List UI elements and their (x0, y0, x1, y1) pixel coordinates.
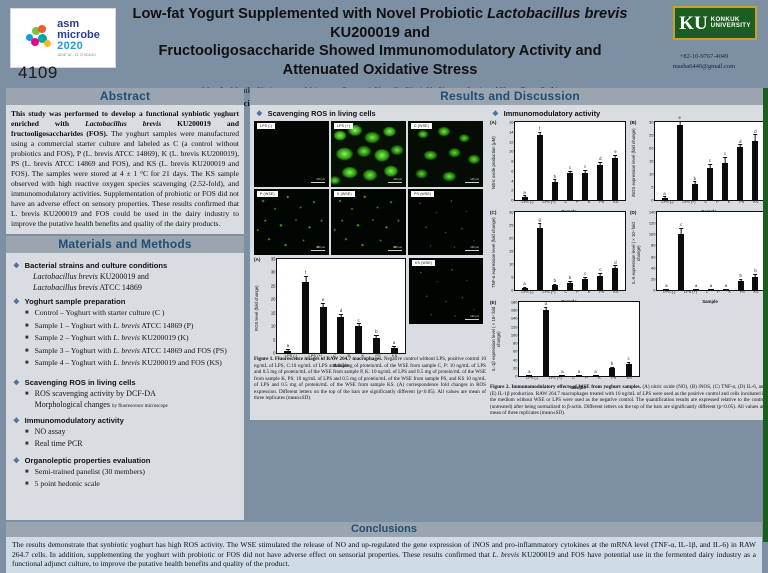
y-tick-label: 0 (511, 288, 513, 293)
subheading-immunomodulatory: ❖ Immunomodulatory activity (492, 109, 766, 118)
square-bullet-icon: ■ (25, 427, 29, 438)
bar (707, 168, 713, 201)
significance-letter: a (725, 283, 727, 288)
bar (537, 135, 543, 200)
significance-letter: b (754, 268, 756, 273)
chart-ros: (A) ROS level (fold change) 051015202530… (254, 258, 406, 354)
square-bullet-icon: ■ (25, 346, 29, 357)
chart-ylabel: IL-1β expression level (×10⁴ fold change… (492, 303, 502, 375)
bar-slot: b (552, 122, 558, 200)
y-tick-label: 100 (511, 332, 518, 337)
error-bar-cap (610, 367, 614, 368)
error-bar (679, 122, 680, 126)
contact-block: +82-10-9767-4049 masha6440@gmail.com (652, 52, 756, 71)
methods-section-scavenging-ros: ❖ Scavenging ROS in living cells (13, 378, 239, 387)
abstract-text: This study was performed to develop a fu… (11, 109, 239, 229)
error-bar (539, 224, 540, 228)
bar (597, 276, 603, 290)
bar (567, 283, 573, 290)
bar-slot: a (526, 302, 532, 376)
chart-ylabel: IL-6 expression level (×10⁴ fold change) (632, 215, 642, 291)
micrograph-label: LPS (+) (334, 123, 353, 129)
y-tick-label: 30 (271, 270, 276, 275)
bar-series: afbccde (515, 122, 625, 200)
error-bar (546, 307, 547, 310)
error-bar-cap (553, 284, 557, 285)
bar-slot: d (752, 122, 758, 200)
significance-letter: f (539, 126, 540, 131)
error-bar-cap (523, 195, 527, 196)
error-bar (585, 278, 586, 279)
y-tick-label: 8 (511, 159, 513, 164)
methods-bullet-1-1: ■Sample 1 – Yoghurt with L. brevis ATCC … (25, 321, 239, 332)
x-tick-label: LPS (-) (521, 290, 533, 294)
subheading-immunomodulatory-label: Immunomodulatory activity (504, 109, 601, 118)
error-bar (570, 171, 571, 172)
bar-slot: a (693, 212, 699, 290)
significance-letter: b (694, 176, 696, 181)
error-bar (612, 367, 613, 368)
diamond-bullet-icon: ❖ (492, 109, 499, 118)
error-bar-cap (538, 223, 542, 224)
y-tick-label: 25 (649, 133, 653, 138)
methods-bullet-1-3: ■Sample 3 – Yoghurt with L. brevis ATCC … (25, 346, 239, 357)
bar-slot: a (576, 302, 582, 376)
significance-letter: c (724, 151, 726, 156)
x-tick-label: LPS (-) (285, 353, 298, 358)
y-tick-label: 80 (513, 341, 517, 346)
significance-letter: a (561, 369, 563, 374)
methods-bullet-1-4: ■Sample 4 – Yoghurt with L. brevis KU200… (25, 358, 239, 369)
results-panel: ❖ Scavenging ROS in living cells LPS (-)… (250, 105, 768, 420)
significance-letter: e (614, 149, 616, 154)
x-tick-label: LPS (-) (526, 376, 538, 380)
konkuk-university-logo: KU KONKUK UNIVERSITY (673, 6, 757, 40)
y-tick-label: 0 (515, 374, 517, 379)
bar-slot: e (612, 122, 618, 200)
methods-title-4: Organoleptic properties evaluation (25, 456, 151, 465)
x-tick-label: LPS (-) (661, 200, 673, 204)
abstract-rest: The yoghurt samples were manufactured us… (11, 129, 239, 228)
bar (537, 228, 543, 290)
bar-slot: c (722, 122, 728, 200)
y-tick-label: 20 (513, 365, 517, 370)
error-bar-cap (723, 157, 727, 158)
y-tick-label: 16 (509, 120, 513, 125)
error-bar (755, 275, 756, 277)
title-species: Lactobacillus brevis (487, 6, 627, 22)
significance-letter: d (599, 156, 601, 161)
bar-slot: a (662, 122, 668, 200)
asm-logo-line4: JUNE 18 - 22 CHICAGO (57, 54, 100, 57)
significance-letter: b (569, 275, 571, 280)
x-tick-labels: LPS (-)LPS (+)CPKPSKS (655, 200, 765, 204)
asm-rings-icon (26, 25, 52, 51)
error-bar (664, 197, 665, 198)
square-bullet-icon: ■ (25, 467, 29, 478)
methods-section-bacterial-strains: ❖ Bacterial strains and culture conditio… (13, 261, 239, 270)
y-tick-label: 120 (511, 324, 518, 329)
chart-xlabel: Sample (276, 363, 406, 368)
significance-letter: b (554, 174, 556, 179)
scalebar-icon (465, 319, 479, 321)
abstract-heading: Abstract (6, 88, 244, 105)
conclusions-text: The results demonstrate that synbiotic y… (12, 540, 756, 570)
significance-letter: c (709, 158, 711, 163)
y-tick-label: 0 (273, 351, 275, 356)
significance-letter: a (578, 369, 580, 374)
bar (612, 158, 618, 200)
y-tick-label: 160 (511, 308, 518, 313)
scalebar-icon (311, 250, 325, 252)
significance-letter: a (393, 340, 395, 345)
scalebar-icon (465, 182, 479, 184)
error-bar-cap (538, 132, 542, 133)
bar-series: aebccdd (655, 122, 765, 200)
bar (355, 326, 362, 353)
y-tick-label: 4 (511, 178, 513, 183)
bar-slot: c (597, 212, 603, 290)
methods-section-immunomodulatory: ❖ Immunomodulatory activity (13, 416, 239, 425)
conclusions-panel: The results demonstrate that synbiotic y… (6, 537, 762, 573)
error-bar-cap (523, 287, 527, 288)
y-tick-label: 2 (511, 188, 513, 193)
bar-slot: c (582, 122, 588, 200)
micrograph-sample-p: P (WSE) 100 μm (254, 189, 329, 255)
bar (337, 317, 344, 353)
bar (752, 141, 758, 200)
results-heading: Results and Discussion (250, 88, 768, 105)
results-middle-column: ❖ Scavenging ROS in living cells LPS (-)… (254, 108, 486, 402)
methods-panel: ❖ Bacterial strains and culture conditio… (6, 253, 244, 520)
y-tick-label: 140 (511, 316, 518, 321)
error-bar (305, 276, 306, 281)
y-tick-label: 15 (509, 249, 513, 254)
methods-title-3: Immunomodulatory activity (25, 416, 124, 425)
significance-letter: c (569, 165, 571, 170)
error-bar-cap (754, 274, 758, 275)
micrograph-sample-ps: PS (WSE) 100 μm (408, 189, 483, 255)
x-tick-label: PS (599, 290, 604, 294)
square-bullet-icon: ■ (25, 321, 29, 332)
y-tick-label: 35 (271, 257, 276, 262)
error-bar (323, 304, 324, 307)
error-bar-cap (679, 228, 683, 229)
scalebar-icon (388, 182, 402, 184)
x-tick-label: LPS (+) (549, 376, 562, 380)
title-line2: Fructooligosaccharide Showed Immunomodul… (158, 43, 601, 78)
error-bar (524, 288, 525, 289)
x-tick-label: KS (753, 200, 758, 204)
significance-letter: d (545, 301, 547, 306)
results-right-column: ❖ Immunomodulatory activity (A) Nitric o… (490, 108, 766, 417)
error-bar (555, 284, 556, 285)
bar-slot: c (355, 259, 362, 353)
abstract-bold-species: Lactobacillus brevis (85, 119, 161, 128)
methods-heading: Materials and Methods (6, 236, 244, 253)
significance-letter: d (340, 308, 342, 313)
micrograph-label: PS (WSE) (411, 191, 434, 197)
y-tick-label: 10 (271, 324, 276, 329)
significance-letter: a (710, 283, 712, 288)
diamond-bullet-icon: ❖ (13, 378, 20, 387)
error-bar (710, 165, 711, 168)
significance-letter: g (539, 217, 541, 222)
square-bullet-icon: ■ (25, 439, 29, 450)
micrograph-sample-c: C (WSE) 100 μm (408, 121, 483, 187)
y-tick-label: 5 (511, 275, 513, 280)
error-bar (681, 229, 682, 234)
title-line1-b: KU200019 and (330, 25, 430, 41)
ku-monogram: KU (679, 14, 708, 33)
significance-letter: a (594, 369, 596, 374)
y-tick-label: 0 (651, 198, 653, 203)
error-bar (288, 350, 289, 351)
bar-slot: e (677, 122, 683, 200)
bar (738, 281, 744, 290)
bar-slot: a (593, 302, 599, 376)
bar-slot: a (391, 259, 398, 353)
error-bar-cap (568, 171, 572, 172)
chart-inos: (B) iNOS expression level (fold change) … (630, 121, 766, 201)
x-tick-label: PS (375, 353, 380, 358)
x-tick-label: P (716, 200, 719, 204)
error-bar-cap (598, 162, 602, 163)
micrograph-label: C (WSE) (411, 123, 432, 129)
y-tick-label: 120 (649, 221, 656, 226)
x-tick-label: P (585, 376, 588, 380)
micrograph-label: K (WSE) (334, 191, 355, 197)
significance-letter: a (523, 190, 525, 195)
methods-section-yoghurt-prep: ❖ Yoghurt sample preparation (13, 297, 239, 306)
micrograph-label: P (WSE) (257, 191, 278, 197)
bar-slot: b (567, 212, 573, 290)
error-bar (376, 335, 377, 337)
subheading-scavenging-ros: ❖ Scavenging ROS in living cells (256, 109, 486, 118)
error-bar (628, 363, 629, 364)
bar (582, 173, 588, 200)
methods-bullet-text-3-1: Real time PCR (35, 439, 83, 450)
bar-slot: b (752, 212, 758, 290)
bar-slot: a (723, 212, 729, 290)
y-tick-label: 10 (509, 149, 513, 154)
bar-slot: b (552, 212, 558, 290)
bar (320, 307, 327, 353)
error-bar (725, 158, 726, 163)
y-tick-label: 10 (509, 262, 513, 267)
significance-letter: d (614, 260, 616, 265)
error-bar-cap (614, 155, 618, 156)
micrograph-lps-positive: LPS (+) 100 μm (331, 121, 406, 187)
x-tick-label: LPS (-) (663, 290, 675, 294)
y-tick-label: 5 (273, 337, 275, 342)
methods-bullet-3-1: ■Real time PCR (25, 439, 239, 450)
y-tick-label: 6 (511, 168, 513, 173)
bar-slot: d (612, 212, 618, 290)
significance-letter: a (287, 343, 289, 348)
square-bullet-icon: ■ (25, 358, 29, 369)
error-bar-cap (738, 144, 742, 145)
x-tick-label: KS (754, 290, 759, 294)
x-tick-labels: LPS (-)LPS (+)CPKPSKS (515, 200, 625, 204)
poster-root: asm microbe 2020 JUNE 18 - 22 CHICAGO 41… (0, 0, 768, 542)
y-tick-label: 15 (271, 310, 276, 315)
x-tick-label: C (564, 200, 567, 204)
y-tick-label: 5 (651, 185, 653, 190)
error-bar (615, 156, 616, 158)
chart-ylabel: Nitric oxide production (μM) (492, 125, 497, 201)
plot-area: 05101520253035 afedcba LPS (-)LPS (+)CPK… (276, 258, 406, 354)
x-tick-label: LPS (+) (309, 353, 323, 358)
x-tick-label: LPS (+) (684, 290, 697, 294)
bar (692, 184, 698, 200)
square-bullet-icon: ■ (25, 479, 29, 490)
x-tick-label: P (576, 290, 579, 294)
error-bar-cap (598, 273, 602, 274)
bar-slot: d (597, 122, 603, 200)
bar-slot: c (567, 122, 573, 200)
x-tick-label: C (572, 376, 575, 380)
x-tick-label: C (704, 200, 707, 204)
y-tick-label: 140 (649, 210, 656, 215)
diamond-bullet-icon: ❖ (13, 456, 20, 465)
bar (543, 310, 549, 376)
error-bar (615, 266, 616, 268)
x-tick-label: PS (739, 200, 744, 204)
bar-slot: d (543, 302, 549, 376)
left-column: Abstract This study was performed to dev… (6, 88, 244, 520)
poster-number: 4109 (18, 63, 58, 83)
micrograph-lps-negative: LPS (-) 100 μm (254, 121, 329, 187)
y-tick-label: 60 (651, 254, 655, 259)
error-bar-cap (583, 170, 587, 171)
error-bar-cap (754, 134, 758, 135)
bar (597, 165, 603, 200)
y-tick-label: 40 (513, 357, 517, 362)
bar-slot: a (663, 212, 669, 290)
micrograph-label: KS (WSE) (412, 260, 435, 266)
asm-microbe-logo: asm microbe 2020 JUNE 18 - 22 CHICAGO (10, 8, 116, 68)
x-tick-label: LPS (-) (521, 200, 533, 204)
error-bar (600, 274, 601, 276)
significance-letter: b (739, 273, 741, 278)
bar-slot: b (738, 212, 744, 290)
bar-slot: f (302, 259, 309, 353)
methods-bullet-1-0: ■Control – Yoghurt with starter culture … (25, 308, 239, 319)
subheading-scavenging-ros-label: Scavenging ROS in living cells (268, 109, 376, 118)
methods-sub-0-1: Lactobacillus brevis ATCC 14869 (33, 283, 239, 293)
bar (609, 368, 615, 376)
error-bar-cap (303, 276, 307, 277)
error-bar-cap (663, 196, 667, 197)
ku-logo-line2: UNIVERSITY (711, 23, 751, 30)
bar (678, 234, 684, 290)
significance-letter: d (754, 129, 756, 134)
bar-slot: a (708, 212, 714, 290)
chart-tnfa: (C) TNF-α expression level (fold change)… (490, 211, 626, 291)
scalebar-icon (388, 250, 402, 252)
bar-slot: d (737, 122, 743, 200)
significance-letter: d (739, 139, 741, 144)
y-tick-label: 20 (649, 146, 653, 151)
square-bullet-icon: ■ (25, 389, 29, 411)
significance-letter: a (523, 281, 525, 286)
significance-letter: c (628, 356, 630, 361)
scalebar-icon (465, 250, 479, 252)
x-tick-label: P (576, 200, 579, 204)
poster-header: asm microbe 2020 JUNE 18 - 22 CHICAGO 41… (0, 0, 768, 88)
error-bar (358, 324, 359, 326)
x-tick-label: LPS (+) (543, 290, 556, 294)
error-bar (600, 163, 601, 165)
y-tick-label: 60 (513, 349, 517, 354)
methods-bullet-2-0: ■ROS scavenging activity by DCF-DAMorpho… (25, 389, 239, 411)
bar (722, 163, 728, 200)
bar-series: adaaabc (519, 302, 639, 376)
significance-letter: b (375, 329, 377, 334)
bar-slot: f (537, 122, 543, 200)
error-bar-cap (739, 279, 743, 280)
methods-bullet-text-4-1: 5 point hedonic scale (35, 479, 100, 490)
x-tick-label: K (588, 200, 591, 204)
chart-xlabel: Sample (656, 299, 764, 304)
bar-slot: g (537, 212, 543, 290)
methods-title-0: Bacterial strains and culture conditions (25, 261, 168, 270)
x-tick-label: PS (599, 200, 604, 204)
error-bar (570, 282, 571, 284)
bar-series: agbbccd (515, 212, 625, 290)
x-tick-label: C (333, 353, 336, 358)
error-bar-cap (708, 164, 712, 165)
chart-ylabel: iNOS expression level (fold change) (632, 125, 637, 201)
x-tick-label: K (588, 290, 591, 294)
significance-letter: c (599, 267, 601, 272)
bar-slot: d (337, 259, 344, 353)
x-tick-label: C (706, 290, 709, 294)
plot-area: 051015202530 agbbccd LPS (-)LPS (+)CPKPS… (514, 211, 626, 291)
significance-letter: a (665, 283, 667, 288)
contact-phone: +82-10-9767-4049 (652, 52, 756, 62)
y-tick-label: 40 (651, 265, 655, 270)
error-bar-cap (544, 307, 548, 308)
x-tick-label: KS (613, 200, 618, 204)
chart-xlabel: Sample (518, 385, 638, 390)
bar-slot: c (678, 212, 684, 290)
poster-title: Low-fat Yogurt Supplemented with Novel P… (120, 5, 640, 80)
significance-letter: e (679, 115, 681, 120)
methods-bullet-3-0: ■NO assay (25, 427, 239, 438)
error-bar (341, 315, 342, 317)
diamond-bullet-icon: ❖ (13, 261, 20, 270)
significance-letter: c (680, 222, 682, 227)
bar (373, 338, 380, 353)
y-tick-label: 100 (649, 232, 656, 237)
chart-il1b: (E) IL-1β expression level (×10⁴ fold ch… (490, 301, 640, 377)
significance-letter: c (584, 271, 586, 276)
micrograph-grid: LPS (-) 100 μm LPS (+) 100 μm (254, 121, 486, 255)
plot-area: 0246810121416 afbccde LPS (-)LPS (+)CPKP… (514, 121, 626, 201)
bar-slot: c (626, 302, 632, 376)
methods-bullet-4-1: ■5 point hedonic scale (25, 479, 239, 490)
methods-title-2: Scavenging ROS in living cells (25, 378, 136, 387)
x-tick-label: KS (613, 290, 618, 294)
methods-bullet-4-0: ■Semi-trained panelist (30 members) (25, 467, 239, 478)
micrograph-sample-ks: KS (WSE) 100 μm (409, 258, 483, 324)
x-tick-label: PS (740, 290, 745, 294)
bar-slot: b (373, 259, 380, 353)
significance-letter: b (611, 361, 613, 366)
bar-slot: b (692, 122, 698, 200)
